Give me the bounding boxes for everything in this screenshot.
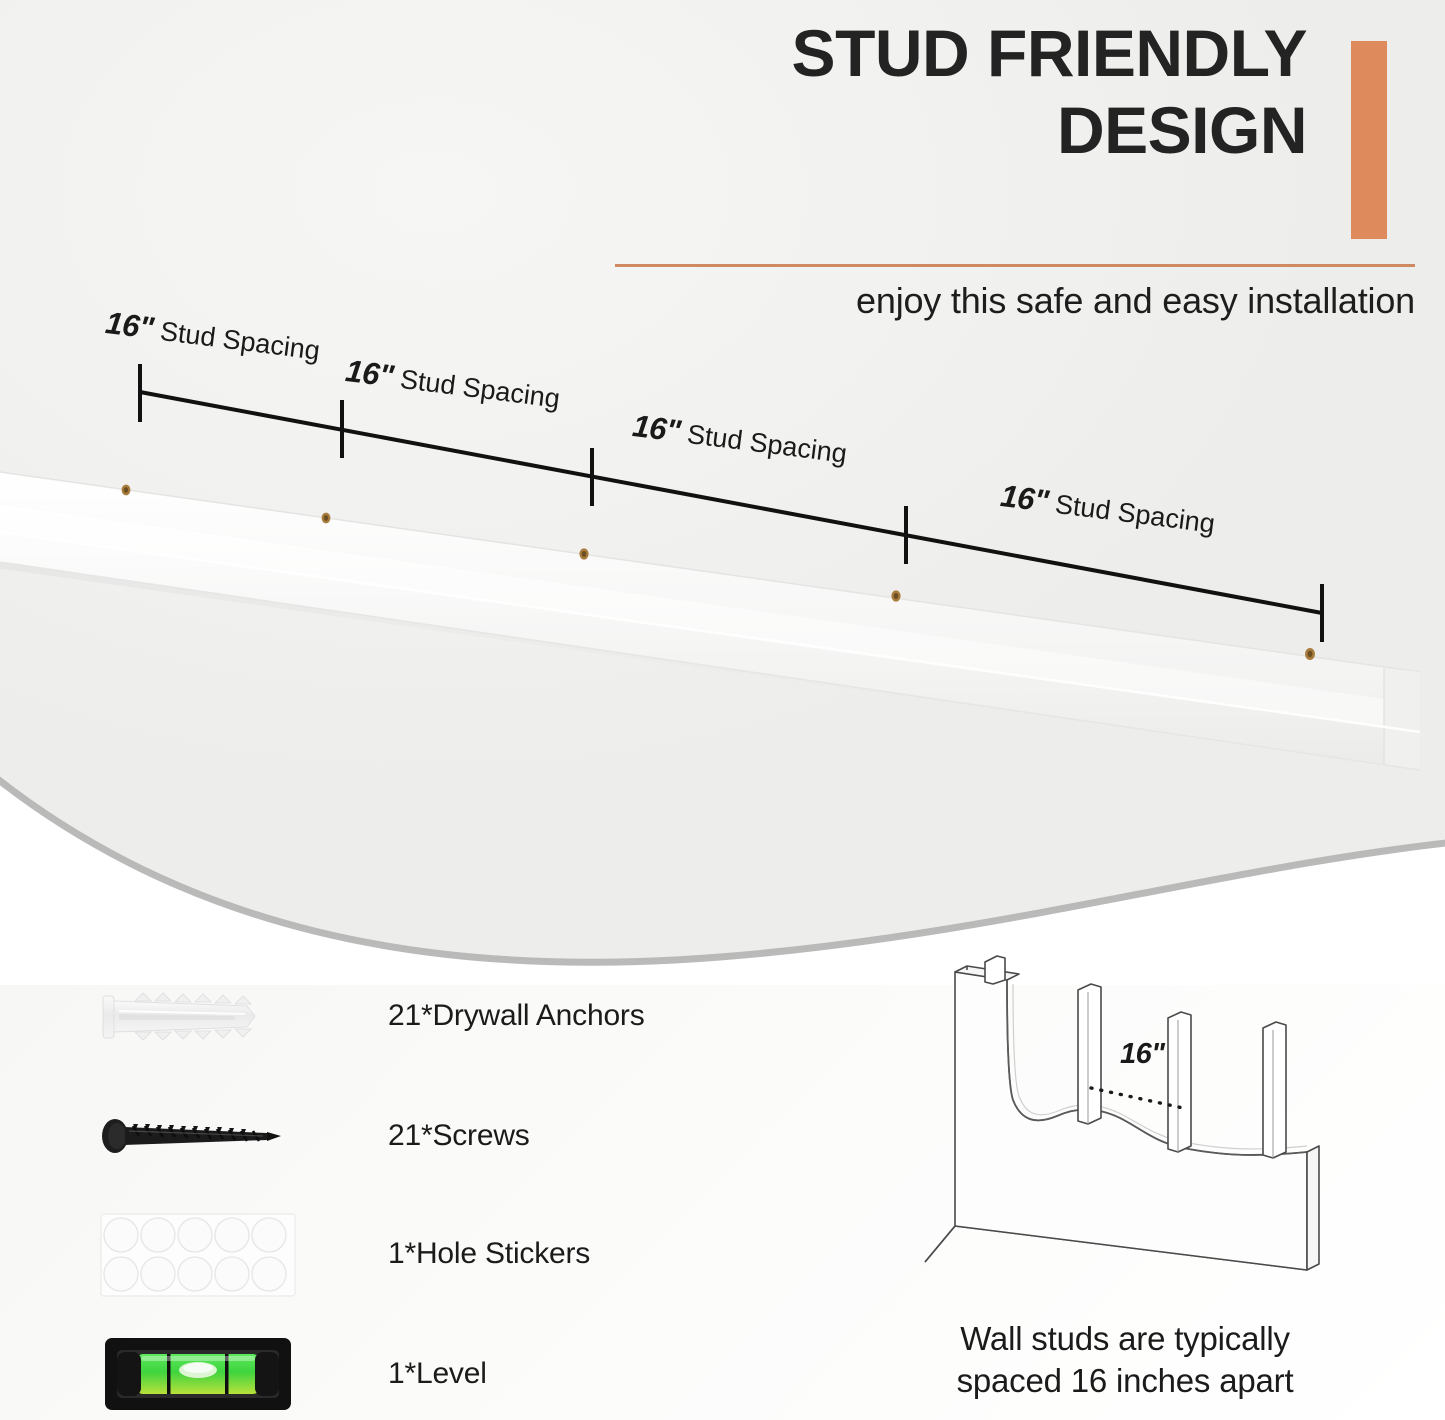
- drywall-anchor-icon: [95, 970, 305, 1062]
- wall-stud-diagram: [915, 940, 1335, 1300]
- wall-diagram-caption: Wall studs are typically spaced 16 inche…: [880, 1318, 1370, 1402]
- header-divider: [615, 264, 1415, 267]
- list-item: 1*Level: [0, 1328, 760, 1420]
- list-item: 1*Hole Stickers: [0, 1208, 760, 1300]
- accent-bar: [1351, 41, 1387, 239]
- part-label: 1*Hole Stickers: [388, 1237, 590, 1271]
- page-title-line2: DESIGN: [615, 95, 1415, 166]
- stud-spacing-inch: 16": [104, 305, 156, 346]
- infographic-page: 16" Stud Spacing 16" Stud Spacing 16" St…: [0, 0, 1445, 1420]
- page-subtitle: enjoy this safe and easy installation: [615, 280, 1415, 322]
- stud-spacing-inch: 16": [631, 408, 683, 449]
- level-icon: [95, 1328, 305, 1420]
- dimension-label-16: 16": [1120, 1038, 1165, 1071]
- stud-spacing-inch: 16": [344, 353, 396, 394]
- part-label: 21*Drywall Anchors: [388, 999, 645, 1033]
- screw-icon: [95, 1090, 305, 1182]
- caption-line1: Wall studs are typically: [880, 1318, 1370, 1360]
- headline-block: STUD FRIENDLY DESIGN enjoy this safe and…: [615, 18, 1415, 167]
- part-label: 21*Screws: [388, 1119, 530, 1153]
- list-item: 21*Drywall Anchors: [0, 970, 760, 1062]
- caption-line2: spaced 16 inches apart: [880, 1360, 1370, 1402]
- hole-stickers-icon: [95, 1208, 305, 1300]
- part-label: 1*Level: [388, 1357, 487, 1391]
- stud-spacing-inch: 16": [999, 478, 1051, 519]
- parts-list: 21*Drywall Anchors: [0, 950, 760, 1420]
- list-item: 21*Screws: [0, 1090, 760, 1182]
- page-title-line1: STUD FRIENDLY: [615, 18, 1415, 89]
